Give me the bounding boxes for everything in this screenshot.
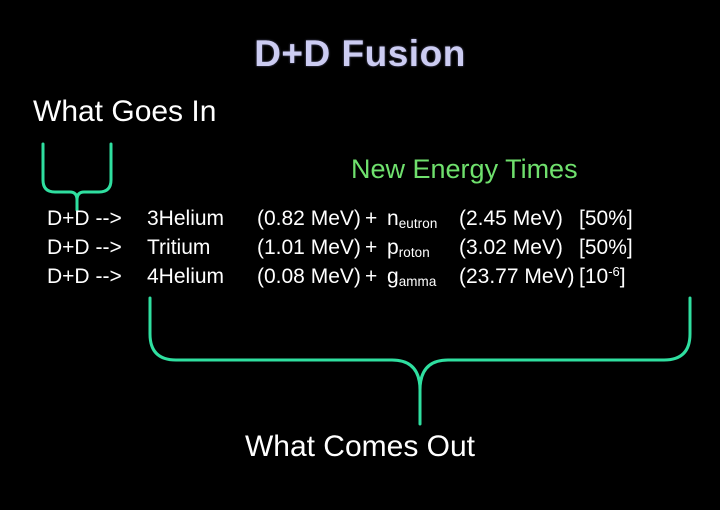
page-title: D+D Fusion xyxy=(0,33,720,75)
reaction-arrow: --> xyxy=(95,207,121,230)
product-name: 3Helium xyxy=(147,204,257,233)
product-energy: (0.08 MeV) xyxy=(257,262,365,291)
reaction-lhs: D+D --> xyxy=(47,262,147,291)
reaction-row: D+D -->Tritium(1.01 MeV)+proton(3.02 MeV… xyxy=(47,233,659,262)
product-energy: (1.01 MeV) xyxy=(257,233,365,262)
reaction-row: D+D -->3Helium(0.82 MeV)+neutron(2.45 Me… xyxy=(47,204,659,233)
slide-canvas: D+D Fusion What Goes In New Energy Times… xyxy=(0,0,720,510)
particle-energy: (23.77 MeV) xyxy=(459,262,579,291)
particle-symbol: n xyxy=(387,207,399,230)
plus-sign: + xyxy=(365,233,387,262)
branching-close: ] xyxy=(620,265,626,288)
particle-subscript: eutron xyxy=(399,216,438,231)
reaction-list: D+D -->3Helium(0.82 MeV)+neutron(2.45 Me… xyxy=(47,204,659,291)
product-energy: (0.82 MeV) xyxy=(257,204,365,233)
branching-exponent: -6 xyxy=(608,264,620,279)
inputs-label: What Goes In xyxy=(33,95,216,129)
reaction-lhs: D+D --> xyxy=(47,204,147,233)
branching-ratio: [50%] xyxy=(579,233,659,262)
product-name: Tritium xyxy=(147,233,257,262)
particle-subscript: amma xyxy=(399,274,437,289)
reaction-arrow: --> xyxy=(95,265,121,288)
brand-label: New Energy Times xyxy=(351,154,578,185)
inputs-brace-icon xyxy=(34,138,124,214)
branching-ratio: [10-6] xyxy=(579,262,659,293)
particle-energy: (3.02 MeV) xyxy=(459,233,579,262)
particle-subscript: roton xyxy=(399,245,430,260)
plus-sign: + xyxy=(365,262,387,291)
outputs-brace-icon xyxy=(142,296,698,428)
reaction-lhs: D+D --> xyxy=(47,233,147,262)
reactant-formula: D+D xyxy=(47,265,90,288)
particle-energy: (2.45 MeV) xyxy=(459,204,579,233)
branching-base: [10 xyxy=(579,265,608,288)
reactant-formula: D+D xyxy=(47,207,90,230)
particle-label: gamma xyxy=(387,262,459,293)
particle-label: proton xyxy=(387,233,459,264)
product-name: 4Helium xyxy=(147,262,257,291)
particle-symbol: p xyxy=(387,236,399,259)
plus-sign: + xyxy=(365,204,387,233)
reaction-row: D+D -->4Helium(0.08 MeV)+gamma(23.77 MeV… xyxy=(47,262,659,291)
branching-ratio: [50%] xyxy=(579,204,659,233)
reactant-formula: D+D xyxy=(47,236,90,259)
particle-label: neutron xyxy=(387,204,459,235)
particle-symbol: g xyxy=(387,265,399,288)
outputs-label: What Comes Out xyxy=(0,430,720,464)
reaction-arrow: --> xyxy=(95,236,121,259)
